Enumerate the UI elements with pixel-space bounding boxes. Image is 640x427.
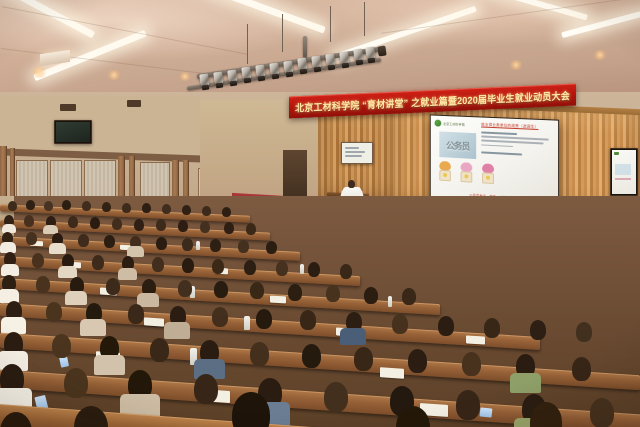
audience-person	[90, 217, 100, 229]
audience-person	[92, 255, 104, 270]
audience-person	[32, 253, 44, 268]
ceiling-downlight-glow	[30, 66, 48, 78]
left-wall-monitor	[54, 120, 92, 144]
audience-person	[222, 207, 231, 217]
monitor-content-line	[345, 147, 359, 149]
audience-torso	[340, 328, 366, 345]
stage-spotlight	[255, 64, 266, 78]
audience-person	[152, 257, 164, 272]
audience-person	[142, 203, 151, 213]
audience-person	[300, 310, 316, 330]
audience-person	[182, 258, 194, 273]
speaker-head	[348, 180, 355, 188]
audience-person	[24, 215, 34, 227]
audience-person	[238, 240, 249, 253]
truss-support-wire	[364, 2, 365, 36]
audience-person	[46, 302, 62, 322]
cartoon-figure	[438, 161, 451, 181]
audience-person	[302, 344, 321, 368]
audience-person	[150, 338, 169, 362]
audience-person	[104, 235, 115, 248]
audience-torso	[58, 266, 77, 278]
slide-logo: 北京工材科学院	[435, 120, 465, 128]
truss-vertical-post	[303, 36, 307, 58]
smartphone-screen	[480, 407, 493, 417]
truss-support-wire	[282, 14, 283, 52]
audience-person	[36, 276, 50, 293]
stage-spotlight	[365, 46, 376, 60]
auditorium-photo: 北京工材科学院 “育材讲堂” 之就业篇暨2020届毕业生就业动员大会 北京工材科…	[0, 0, 640, 427]
stage-spotlight	[283, 60, 294, 74]
audience-torso	[80, 319, 106, 336]
stage-spotlight	[311, 55, 322, 69]
audience-person	[156, 219, 166, 231]
acoustic-wall-panel	[16, 160, 48, 198]
ceiling-downlight-glow	[508, 60, 524, 70]
audience-person	[8, 201, 17, 211]
audience-person	[26, 200, 35, 210]
audience-person	[64, 368, 88, 398]
audience-person	[266, 241, 277, 254]
truss-support-wire	[330, 6, 331, 42]
audience-person	[250, 282, 264, 299]
audience-person	[162, 204, 171, 214]
audience-person	[354, 347, 373, 371]
projection-screen: 北京工材科学院 就业择业类单位的政策（选调生） 公务员	[431, 115, 558, 208]
audience-person	[590, 398, 614, 427]
cartoon-figure	[460, 162, 474, 183]
audience-person	[68, 216, 78, 228]
left-wall-surface	[0, 96, 200, 156]
notebook	[270, 296, 286, 304]
audience-person	[224, 222, 234, 234]
audience-person	[246, 223, 256, 235]
audience-person	[572, 357, 591, 381]
audience-person	[82, 201, 91, 211]
audience-person	[340, 264, 352, 279]
acoustic-wall-panel	[84, 160, 116, 200]
slide-body-text	[481, 131, 552, 159]
audience-person	[308, 262, 320, 277]
audience-torso	[164, 322, 190, 339]
notebook	[380, 367, 404, 379]
stage-back-recess	[283, 150, 307, 202]
monitor-content-line	[345, 151, 365, 153]
audience-person	[392, 314, 408, 334]
stage-confidence-monitor	[341, 142, 373, 164]
audience-person	[250, 342, 269, 366]
audience-torso	[65, 291, 87, 305]
audience-person	[178, 280, 192, 297]
audience-person	[62, 200, 71, 210]
audience-person	[128, 304, 144, 324]
audience-person-foreground	[530, 402, 562, 427]
audience-person	[288, 284, 302, 301]
stage-spotlight	[377, 45, 386, 56]
audience-person	[276, 261, 288, 276]
audience-torso	[510, 373, 541, 393]
water-bottle	[388, 296, 392, 307]
notebook	[144, 317, 164, 326]
acoustic-wall-panel	[50, 160, 82, 199]
audience-person	[456, 390, 480, 420]
slide-title: 就业择业类单位的政策（选调生）	[481, 122, 538, 130]
cartoon-figure	[481, 163, 495, 184]
slide-image: 公务员	[439, 132, 476, 160]
audience-person	[194, 374, 218, 404]
audience-person	[402, 288, 416, 305]
left-wall-monitor-screen	[56, 122, 90, 142]
audience-person	[326, 285, 340, 302]
left-wall-speaker-box	[127, 100, 141, 107]
audience-person	[106, 278, 120, 295]
ceiling-downlight-glow	[178, 72, 192, 81]
audience-person	[122, 203, 131, 213]
audience-person	[484, 318, 500, 338]
audience-person	[462, 352, 481, 376]
right-wall-monitor-screen	[612, 150, 636, 194]
audience-person	[182, 238, 193, 251]
audience-person	[156, 237, 167, 250]
stage-spotlight	[241, 66, 252, 80]
stage-spotlight	[339, 51, 350, 65]
audience-torso	[94, 355, 125, 375]
water-bottle	[244, 316, 250, 330]
stage-spotlight	[269, 62, 280, 76]
audience-torso	[118, 268, 137, 280]
stage-spotlight	[325, 53, 336, 67]
audience-person	[134, 219, 144, 231]
slide-image-text: 公务员	[446, 138, 469, 152]
audience-person	[182, 205, 191, 215]
audience-person	[26, 232, 37, 245]
audience-area	[0, 196, 640, 427]
stage-spotlight	[353, 48, 364, 62]
audience-person	[408, 349, 427, 373]
audience-person	[244, 260, 256, 275]
audience-person	[200, 221, 210, 233]
audience-person	[576, 322, 592, 342]
audience-person	[214, 281, 228, 298]
truss-support-wire	[247, 24, 248, 64]
stage-spotlight	[199, 73, 210, 87]
stage-spotlight	[213, 71, 224, 85]
audience-person	[178, 220, 188, 232]
audience-person	[102, 202, 111, 212]
audience-person	[212, 307, 228, 327]
stage-spotlight	[297, 57, 308, 71]
water-bottle	[196, 241, 200, 250]
stage-spotlight	[227, 69, 238, 83]
audience-person	[44, 201, 53, 211]
audience-torso	[49, 243, 66, 254]
left-wall-speaker-box	[60, 104, 76, 111]
audience-person	[112, 218, 122, 230]
audience-person	[364, 287, 378, 304]
monitor-content-line	[345, 155, 362, 157]
ceiling-downlight-glow	[592, 50, 608, 60]
audience-person	[530, 320, 546, 340]
audience-person	[202, 206, 211, 216]
audience-person	[78, 234, 89, 247]
audience-person	[52, 334, 71, 358]
audience-person	[438, 316, 454, 336]
water-bottle	[300, 264, 304, 274]
slide-logo-icon	[435, 120, 442, 127]
ceiling-downlight-glow	[106, 70, 122, 80]
audience-person	[212, 259, 224, 274]
notebook	[466, 335, 485, 344]
audience-person	[324, 382, 348, 412]
audience-person	[210, 239, 221, 252]
slide-cartoon-figures	[438, 161, 495, 184]
right-wall-monitor	[610, 148, 638, 196]
slide-logo-text: 北京工材科学院	[443, 121, 465, 126]
audience-person	[256, 309, 272, 329]
